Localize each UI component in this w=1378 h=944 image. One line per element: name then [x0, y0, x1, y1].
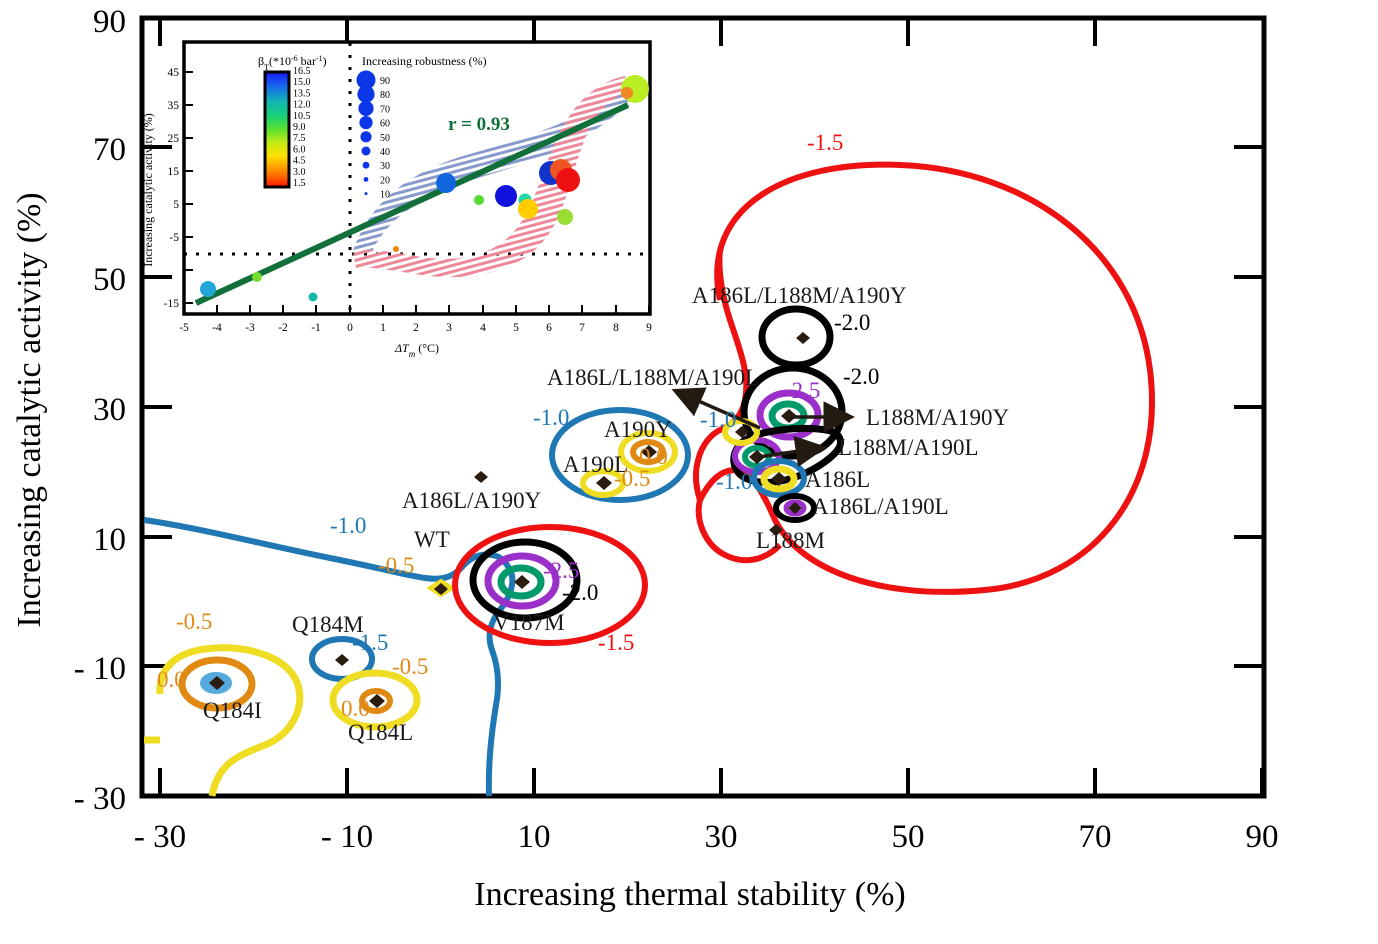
contour-level-label: -2.0 — [834, 310, 870, 335]
size-legend-label: 10 — [380, 190, 390, 201]
inset-point — [252, 272, 262, 282]
label-a190y: A190Y — [604, 417, 672, 442]
size-legend-bubble — [358, 101, 373, 116]
size-legend-label: 50 — [380, 133, 390, 144]
inset-y-tick: 35 — [168, 100, 180, 112]
x-tick: 30 — [705, 819, 738, 855]
label-a186l-l188m-a190l: A186L/L188M/A190L — [547, 365, 759, 390]
inset-x-tick: 2 — [413, 322, 419, 334]
contour-level-label: -2.5 — [784, 378, 820, 403]
inset-y-tick: 5 — [173, 199, 179, 211]
y-axis-label: Increasing catalytic activity (%) — [11, 192, 48, 627]
cb-exp: -6 — [291, 54, 298, 63]
inset-point — [621, 87, 633, 99]
label-l188m-a190y: L188M/A190Y — [866, 405, 1010, 430]
inset-x-tick: -4 — [212, 322, 222, 334]
label-a186l-l188m-a190y: A186L/L188M/A190Y — [692, 283, 907, 308]
colorbar-tick: 10.5 — [293, 111, 311, 122]
inset-point — [309, 293, 318, 302]
x-tick: 10 — [518, 819, 551, 855]
x-tick: 50 — [892, 819, 925, 855]
label-a186l: A186L — [805, 467, 870, 492]
x-tick: - 30 — [134, 819, 186, 855]
colorbar-tick: 4.5 — [293, 156, 306, 167]
size-legend-label: 80 — [380, 90, 390, 101]
inset-x-tick: 0 — [347, 322, 353, 334]
contour-level-label: -1.0 — [330, 513, 366, 538]
inset-y-tick: -15 — [164, 298, 180, 310]
inset-x-tick: 7 — [579, 322, 585, 334]
x-tick: - 10 — [321, 819, 373, 855]
y-tick: 10 — [93, 522, 126, 558]
colorbar-tick: 3.0 — [293, 167, 306, 178]
x-axis-label: Increasing thermal stability (%) — [474, 876, 905, 913]
colorbar-tick: 1.5 — [293, 178, 306, 189]
contour-level-label: -2.0 — [562, 580, 598, 605]
size-legend-label: 70 — [380, 104, 390, 115]
colorbar-tick: 16.5 — [293, 66, 311, 77]
size-legend-bubble — [359, 116, 372, 129]
x-tick: 90 — [1246, 819, 1279, 855]
x-tick-labels: - 30 - 10 10 30 50 70 90 — [134, 819, 1279, 855]
inset-x-tick: 5 — [513, 322, 519, 334]
size-legend-bubble — [365, 192, 368, 195]
cb-close: ) — [323, 54, 327, 68]
size-legend-bubble — [363, 162, 370, 169]
contour-level-label: -0.5 — [392, 654, 428, 679]
inset-x-tick: 6 — [546, 322, 552, 334]
x-tick: 70 — [1079, 819, 1112, 855]
inset-point — [436, 173, 456, 193]
size-legend-bubble — [360, 131, 371, 142]
figure-root: 90 70 50 30 10 - 10 - 30 - 30 - 10 10 30… — [0, 0, 1378, 944]
y-tick: - 10 — [74, 651, 126, 687]
label-a186l-a190l: A186L/A190L — [812, 494, 949, 519]
contour-level-label: -2.0 — [843, 364, 879, 389]
inset-point — [474, 195, 484, 205]
y-tick: 50 — [93, 262, 126, 298]
inset-y-tick: 25 — [168, 133, 180, 145]
size-legend-label: 40 — [380, 147, 390, 158]
y-tick-labels: 90 70 50 30 10 - 10 - 30 — [74, 4, 126, 817]
inset-x-tick: 9 — [646, 322, 652, 334]
inset-size-legend-title: Increasing robustness (%) — [362, 54, 487, 68]
inset-point — [200, 281, 216, 297]
inset-point — [557, 209, 573, 225]
colorbar-tick: 13.5 — [293, 88, 311, 99]
cb-post: (*10 — [269, 54, 291, 68]
label-l188m-a190l: L188M/A190L — [838, 435, 979, 460]
y-tick: - 30 — [74, 781, 126, 817]
colorbar-tick: 7.5 — [293, 133, 306, 144]
size-legend-bubble — [364, 177, 369, 182]
size-legend-bubble — [362, 147, 371, 156]
inset-x-tick: 1 — [380, 322, 386, 334]
size-legend-label: 60 — [380, 119, 390, 130]
label-q184i: Q184I — [203, 698, 262, 723]
contour-level-label: 0.0 — [341, 696, 370, 721]
contour-level-label: -1.5 — [807, 130, 843, 155]
inset-point — [393, 246, 399, 252]
inset-x-tick: -5 — [179, 322, 189, 334]
colorbar-tick: 15.0 — [293, 77, 311, 88]
inset-x-tick: 4 — [480, 322, 486, 334]
inset-x-tick: 3 — [446, 322, 452, 334]
inset-panel: -5 -4 -3 -2 -1 0 1 2 3 4 5 6 7 8 9 45 35… — [141, 42, 652, 359]
inset-point — [556, 168, 580, 192]
label-v187m: V187M — [493, 610, 565, 635]
inset-y-tick: 15 — [168, 166, 180, 178]
colorbar-tick: 6.0 — [293, 144, 306, 155]
label-l188m: L188M — [756, 528, 825, 553]
inset-y-tick: -5 — [169, 232, 179, 244]
inset-x-tick: -1 — [311, 322, 321, 334]
y-tick: 70 — [93, 132, 126, 168]
contour-level-label: -1.0 — [533, 405, 569, 430]
size-legend-label: 20 — [380, 175, 390, 186]
contour-level-label: -1.0 — [700, 407, 736, 432]
main-figure: 90 70 50 30 10 - 10 - 30 - 30 - 10 10 30… — [0, 0, 1378, 944]
label-wt: WT — [414, 527, 450, 552]
contour-level-label: -0.5 — [614, 466, 650, 491]
contour-level-label: 0.0 — [157, 667, 186, 692]
cb-unit-exp: -1 — [316, 54, 323, 63]
inset-y-tick: 45 — [168, 67, 180, 79]
inset-xlabel-post: (°C) — [415, 341, 439, 355]
size-legend-bubble — [357, 86, 374, 103]
contour-level-label: -0.5 — [176, 609, 212, 634]
label-q184l: Q184L — [348, 720, 413, 745]
inset-point — [518, 199, 538, 219]
inset-xlabel-pre: ΔT — [394, 341, 410, 355]
contour-level-label: -0.5 — [378, 553, 414, 578]
y-tick: 30 — [93, 392, 126, 428]
colorbar-tick: 12.0 — [293, 100, 311, 111]
inset-correlation-label: r = 0.93 — [448, 114, 510, 135]
inset-point — [495, 185, 517, 207]
contour-level-label: -1.0 — [716, 469, 752, 494]
inset-y-axis-label: Increasing catalytic activity (%) — [141, 113, 155, 267]
inset-colorbar — [265, 72, 289, 187]
inset-x-tick: -2 — [278, 322, 288, 334]
inset-x-tick-labels: -5 -4 -3 -2 -1 0 1 2 3 4 5 6 7 8 9 — [179, 322, 652, 334]
contour-level-label: -1.5 — [598, 630, 634, 655]
inset-x-tick: -3 — [245, 322, 255, 334]
contour-level-label: -1.5 — [352, 630, 388, 655]
size-legend-label: 30 — [380, 161, 390, 172]
inset-x-tick: 8 — [613, 322, 619, 334]
y-tick: 90 — [93, 4, 126, 40]
colorbar-tick: 9.0 — [293, 122, 306, 133]
size-legend-label: 90 — [380, 76, 390, 87]
label-a186l-a190y: A186L/A190Y — [402, 488, 542, 513]
